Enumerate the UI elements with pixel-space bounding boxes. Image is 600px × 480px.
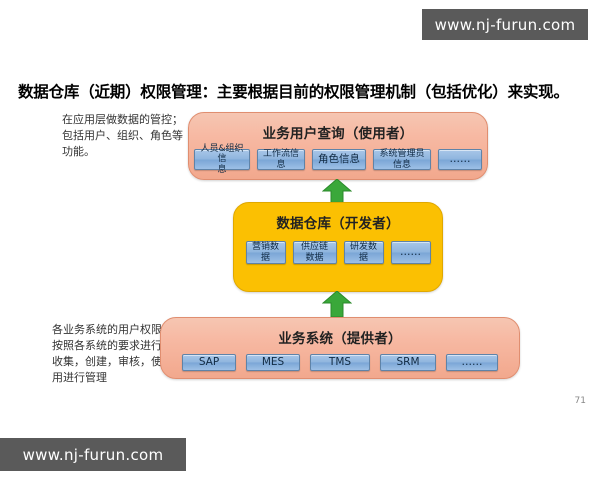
watermark-top: www.nj-furun.com <box>422 9 588 40</box>
chip-rnd-data[interactable]: 研发数 据 <box>344 241 384 264</box>
flow-arrow-up-to-warehouse <box>322 291 352 317</box>
note-source-systems: 各业务系统的用户权限按照各系统的要求进行收集，创建，审核，使用进行管理 <box>52 322 170 386</box>
page-title: 数据仓库（近期）权限管理：主要根据目前的权限管理机制（包括优化）来实现。 <box>18 80 569 102</box>
layer-provider-title: 业务系统（提供者） <box>161 318 519 347</box>
chip-role-info[interactable]: 角色信息 <box>312 149 366 170</box>
note-application-layer: 在应用层做数据的管控；包括用户、组织、角色等功能。 <box>62 112 184 160</box>
chip-marketing-data[interactable]: 营销数 据 <box>246 241 286 264</box>
chip-personnel-org-info[interactable]: 人员&组织信 息 <box>194 149 250 170</box>
layer-warehouse-title: 数据仓库（开发者） <box>234 203 442 232</box>
chip-provider-more[interactable]: …… <box>446 354 498 371</box>
chip-tms[interactable]: TMS <box>310 354 370 371</box>
chip-sap[interactable]: SAP <box>182 354 236 371</box>
layer-business-systems: 业务系统（提供者） SAP MES TMS SRM …… <box>160 317 520 379</box>
chip-consumer-more[interactable]: …… <box>438 149 482 170</box>
chip-workflow-info[interactable]: 工作流信 息 <box>257 149 305 170</box>
layer-provider-chip-row: SAP MES TMS SRM …… <box>161 347 519 371</box>
layer-consumer-title: 业务用户查询（使用者） <box>189 113 487 142</box>
layer-data-warehouse: 数据仓库（开发者） 营销数 据 供应链 数据 研发数 据 …… <box>233 202 443 292</box>
layer-business-user-query: 业务用户查询（使用者） 人员&组织信 息 工作流信 息 角色信息 系统管理员 信… <box>188 112 488 180</box>
page-number: 71 <box>575 396 586 406</box>
chip-supply-chain-data[interactable]: 供应链 数据 <box>293 241 337 264</box>
chip-mes[interactable]: MES <box>246 354 300 371</box>
layer-warehouse-chip-row: 营销数 据 供应链 数据 研发数 据 …… <box>234 232 442 264</box>
layer-consumer-chip-row: 人员&组织信 息 工作流信 息 角色信息 系统管理员 信息 …… <box>189 142 487 170</box>
watermark-bottom: www.nj-furun.com <box>0 438 186 471</box>
chip-warehouse-more[interactable]: …… <box>391 241 431 264</box>
chip-sysadmin-info[interactable]: 系统管理员 信息 <box>373 149 431 170</box>
chip-srm[interactable]: SRM <box>380 354 436 371</box>
